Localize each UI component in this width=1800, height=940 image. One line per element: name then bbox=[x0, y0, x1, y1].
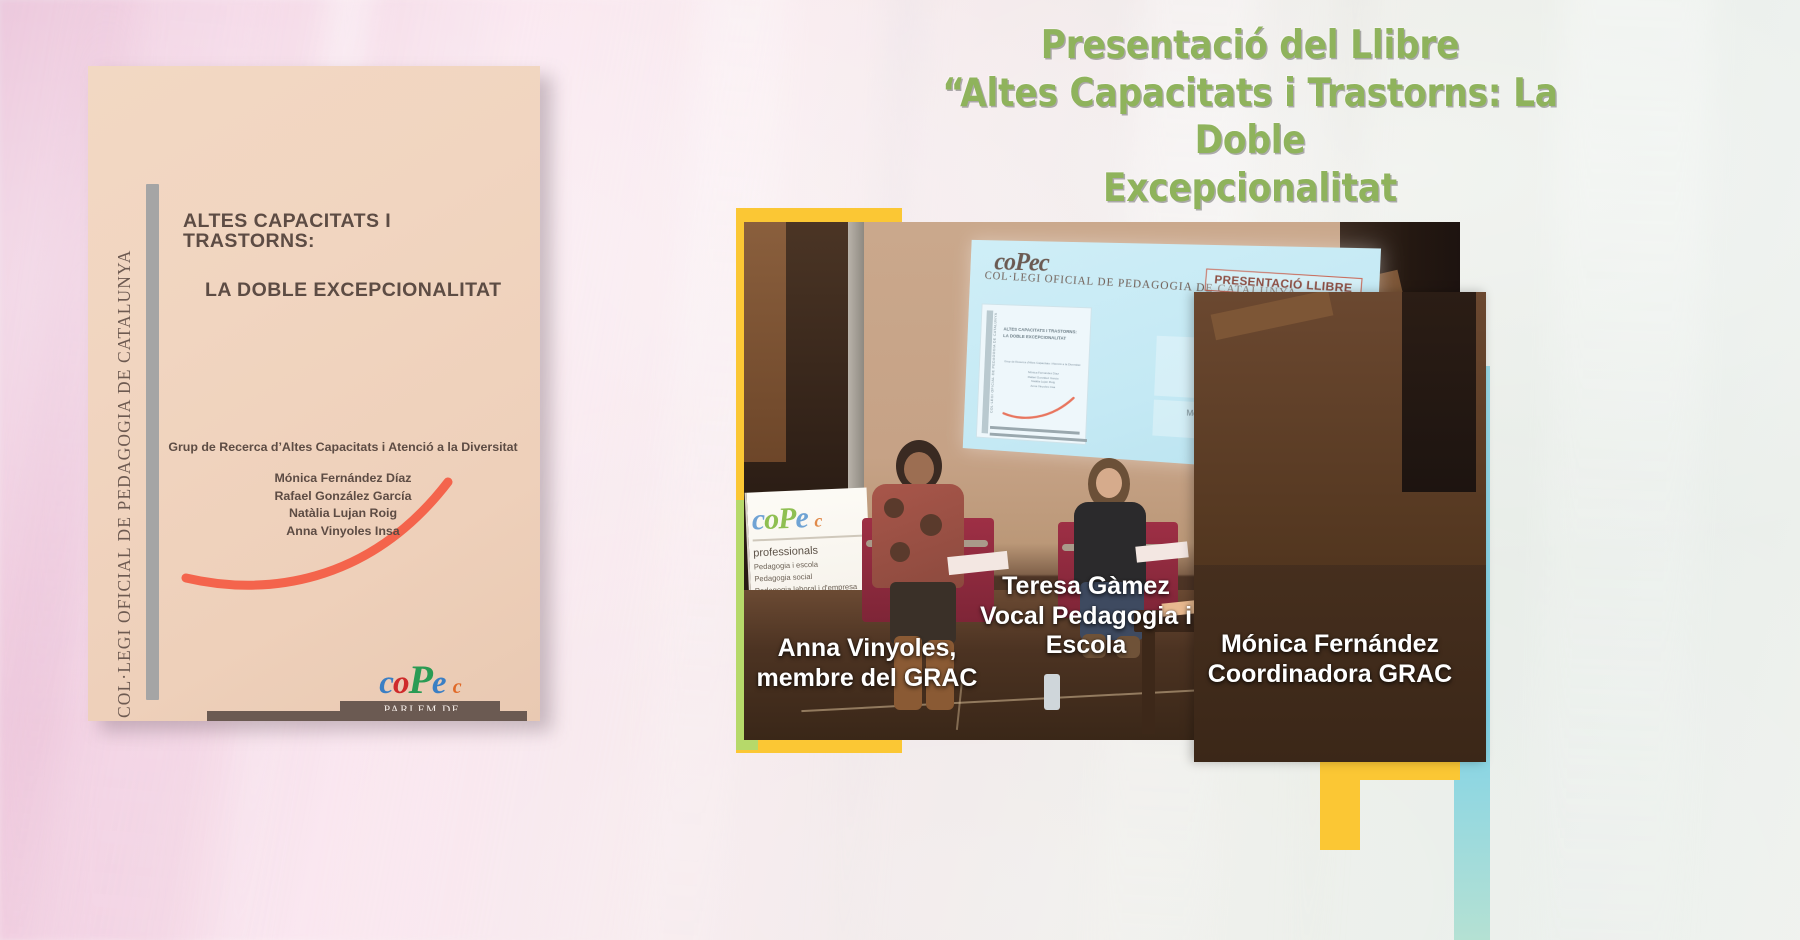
caption-anna-name: Anna Vinyoles, bbox=[736, 634, 998, 664]
inset-curtain bbox=[1402, 292, 1476, 492]
title-line-1: Presentació del Llibre bbox=[889, 22, 1611, 70]
slide-book-title: ALTES CAPACITATS I TRASTORNS: LA DOBLE E… bbox=[1003, 326, 1084, 343]
water-bottle bbox=[1044, 674, 1060, 710]
caption-anna-role: membre del GRAC bbox=[736, 664, 998, 694]
banner-left-logo: coPe c bbox=[751, 501, 868, 533]
copec-letter-c2: c bbox=[453, 676, 461, 698]
copec-letter-p: P bbox=[408, 657, 431, 702]
caption-monica-role: Coordinadora GRAC bbox=[1198, 660, 1462, 690]
slide-book-title-line2: LA DOBLE EXCEPCIONALITAT bbox=[1003, 333, 1066, 341]
slide-book-thumbnail: COL·LEGI OFICIAL DE PEDAGOGIA DE CATALUN… bbox=[976, 303, 1092, 444]
book-title-line-1: ALTES CAPACITATS I TRASTORNS: bbox=[183, 210, 391, 252]
banner-left-heading: professionals bbox=[753, 542, 869, 559]
event-photo-right-inset bbox=[1194, 292, 1486, 762]
person-face bbox=[904, 452, 934, 486]
book-title: ALTES CAPACITATS I TRASTORNS: LA DOBLE E… bbox=[183, 212, 513, 301]
title-line-3: Excepcionalitat bbox=[889, 165, 1611, 213]
book-research-group: Grup de Recerca d’Altes Capacitats i Ate… bbox=[158, 440, 528, 454]
person-pattern-dot bbox=[890, 542, 910, 562]
slide-book-group: Grup de Recerca d'Altes Capacitats i Ate… bbox=[998, 359, 1086, 367]
slide-book-curve bbox=[998, 388, 1084, 428]
book-cover: COL·LEGI OFICIAL DE PEDAGOGIA DE CATALUN… bbox=[88, 66, 540, 721]
book-author: Rafael González García bbox=[158, 488, 528, 506]
book-author: Natàlia Lujan Roig bbox=[158, 505, 528, 523]
person-pattern-dot bbox=[920, 514, 942, 536]
book-author-list: Mónica Fernández Díaz Rafael González Ga… bbox=[158, 470, 528, 540]
copec-letter-o: o bbox=[393, 665, 409, 701]
book-title-line-2: LA DOBLE EXCEPCIONALITAT bbox=[205, 281, 513, 301]
book-spine-text: COL·LEGI OFICIAL DE PEDAGOGIA DE CATALUN… bbox=[114, 158, 135, 718]
person-pattern-dot bbox=[884, 498, 904, 518]
book-author: Mónica Fernández Díaz bbox=[158, 470, 528, 488]
caption-anna: Anna Vinyoles, membre del GRAC bbox=[736, 634, 998, 693]
book-cover-page: COL·LEGI OFICIAL DE PEDAGOGIA DE CATALUN… bbox=[88, 66, 540, 721]
caption-monica-name: Mónica Fernández bbox=[1198, 630, 1462, 660]
slide-book-authors: Mónica Fernández DíazRafael González Gar… bbox=[1005, 369, 1083, 391]
photo-wood-beam bbox=[744, 222, 786, 462]
page-title: Presentació del Llibre “Altes Capacitats… bbox=[889, 22, 1611, 212]
copec-logo-word: coPe c bbox=[340, 662, 500, 699]
caption-teresa-name: Teresa Gàmez bbox=[946, 572, 1226, 602]
photo-collage: coPec COL·LEGI OFICIAL DE PEDAGOGIA DE C… bbox=[728, 200, 1488, 800]
copec-letter-c1: c bbox=[379, 665, 393, 701]
title-line-2: “Altes Capacitats i Trastorns: La Doble bbox=[889, 70, 1611, 165]
book-bottom-bar-1 bbox=[207, 711, 527, 721]
copec-letter-e: e bbox=[432, 665, 446, 701]
caption-monica: Mónica Fernández Coordinadora GRAC bbox=[1198, 630, 1462, 689]
book-author: Anna Vinyoles Insa bbox=[158, 523, 528, 541]
person-face bbox=[1096, 468, 1122, 498]
